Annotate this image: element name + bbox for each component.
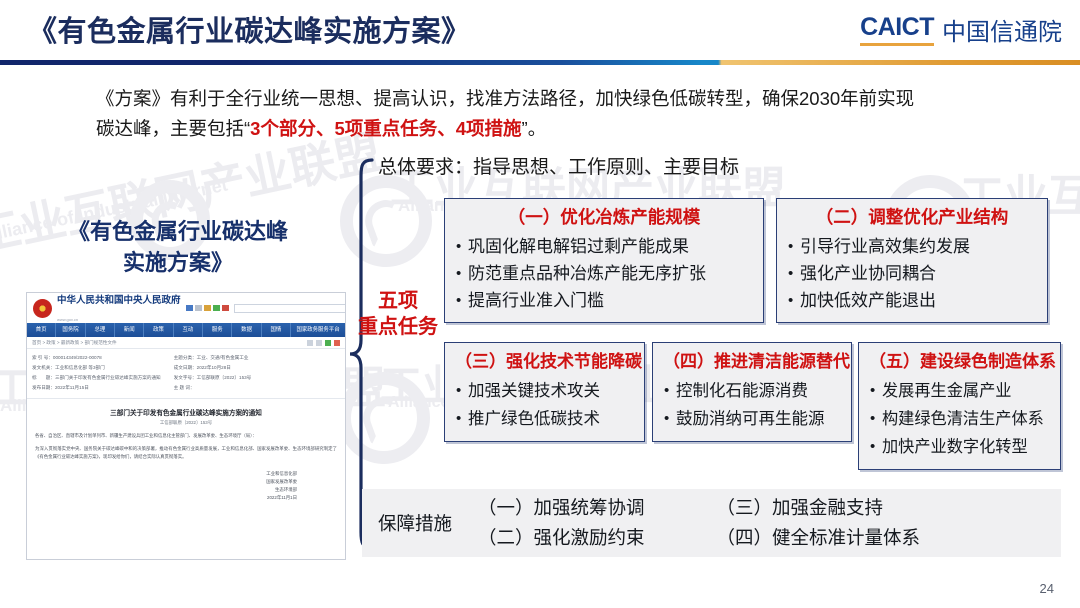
task-card-2-title: （二）调整优化产业结构	[787, 205, 1037, 230]
gov-breadcrumb: 首页 > 政策 > 最新政策 > 部门规范性文件	[27, 337, 345, 349]
measure-item: （四）健全标准计量体系	[717, 523, 921, 553]
wechat-icon[interactable]	[325, 340, 331, 346]
task-item: 提高行业准入门槛	[455, 287, 753, 314]
gov-nav-item[interactable]: 国情	[262, 323, 291, 337]
gov-nav-item[interactable]: 国家政务服务平台	[291, 323, 345, 337]
gov-nav-item[interactable]: 国务院	[56, 323, 85, 337]
page-title: 《有色金属行业碳达峰实施方案》	[28, 8, 471, 50]
task-item: 引导行业高效集约发展	[787, 233, 1037, 260]
star-icon	[204, 305, 211, 311]
task-card-4-list: 控制化石能源消费 鼓励消纳可再生能源	[663, 377, 841, 433]
gov-doc-paragraph: 为深入贯彻落实党中央、国务院关于碳达峰碳中和的决策部署，推动有色金属行业高质量发…	[35, 445, 337, 462]
measures-column-2: （三）加强金融支持 （四）健全标准计量体系	[717, 493, 921, 553]
gov-meta-row: 索 引 号：000014349/2022-00078 主题分类：工业、交通/有色…	[32, 353, 340, 363]
font-size-icon[interactable]	[307, 340, 313, 346]
gov-doc-metadata: 索 引 号：000014349/2022-00078 主题分类：工业、交通/有色…	[27, 349, 345, 399]
safeguard-measures-label: 保障措施	[378, 510, 452, 536]
task-card-3-title: （三）强化技术节能降碳	[455, 349, 634, 374]
task-item: 发展再生金属产业	[869, 377, 1050, 405]
task-item: 构建绿色清洁生产体系	[869, 405, 1050, 433]
intro-paragraph: 《方案》有利于全行业统一思想、提高认识，找准方法路径，加快绿色低碳转型，确保20…	[96, 84, 1006, 144]
task-card-4: （四）推进清洁能源替代 控制化石能源消费 鼓励消纳可再生能源	[652, 342, 852, 442]
task-card-5-title: （五）建设绿色制造体系	[869, 349, 1050, 374]
wechat-icon	[213, 305, 220, 311]
gov-site-name: 中华人民共和国中央人民政府	[57, 295, 181, 306]
task-item: 防范重点品种冶炼产能无序扩张	[455, 260, 753, 287]
gov-meta-row: 标 题：三部门关于印发有色金属行业碳达峰实施方案的通知 发文字号：工信部联原〔2…	[32, 373, 340, 383]
task-item: 加强关键技术攻关	[455, 377, 634, 405]
gov-nav-item[interactable]: 服务	[203, 323, 232, 337]
measures-column-1: （一）加强统筹协调 （二）强化激励约束	[478, 493, 645, 553]
gov-nav-item[interactable]: 新闻	[115, 323, 144, 337]
intro-line-1: 《方案》有利于全行业统一思想、提高认识，找准方法路径，加快绿色低碳转型，确保20…	[96, 84, 1006, 114]
measure-item: （一）加强统筹协调	[478, 493, 645, 523]
caict-logo: CAICT 中国信通院	[860, 12, 1062, 47]
gov-nav-bar[interactable]: 首页 国务院 总理 新闻 政策 互动 服务 数据 国情 国家政务服务平台	[27, 323, 345, 337]
task-card-4-title: （四）推进清洁能源替代	[663, 349, 841, 374]
gov-nav-item[interactable]: 互动	[174, 323, 203, 337]
task-card-3-list: 加强关键技术攻关 推广绿色低碳技术	[455, 377, 634, 433]
task-card-2: （二）调整优化产业结构 引导行业高效集约发展 强化产业协同耦合 加快低效产能退出	[776, 198, 1048, 323]
document-title-left: 《有色金属行业碳达峰 实施方案》	[28, 216, 328, 278]
slide-canvas: 工业互联网产业联盟 Alliance of Industrial Interne…	[0, 0, 1080, 608]
task-card-5-list: 发展再生金属产业 构建绿色清洁生产体系 加快产业数字化转型	[869, 377, 1050, 461]
header-divider	[0, 60, 1080, 65]
task-card-2-list: 引导行业高效集约发展 强化产业协同耦合 加快低效产能退出	[787, 233, 1037, 314]
measure-item: （三）加强金融支持	[717, 493, 921, 523]
gov-search-input[interactable]	[234, 304, 346, 313]
gov-share-row[interactable]	[307, 340, 340, 346]
safeguard-measures-panel: 保障措施 （一）加强统筹协调 （二）强化激励约束 （三）加强金融支持 （四）健全…	[362, 489, 1061, 557]
weibo-icon	[222, 305, 229, 311]
task-card-5: （五）建设绿色制造体系 发展再生金属产业 构建绿色清洁生产体系 加快产业数字化转…	[858, 342, 1061, 470]
task-card-1-title: （一）优化冶炼产能规模	[455, 205, 753, 230]
signature-line: 工业和信息化部	[35, 470, 297, 478]
task-card-3: （三）强化技术节能降碳 加强关键技术攻关 推广绿色低碳技术	[444, 342, 645, 442]
task-item: 巩固化解电解铝过剩产能成果	[455, 233, 753, 260]
task-item: 加快产业数字化转型	[869, 433, 1050, 461]
measure-item: （二）强化激励约束	[478, 523, 645, 553]
five-key-tasks-label: 五项 重点任务	[352, 288, 444, 340]
national-emblem-icon	[33, 299, 52, 318]
gov-nav-item[interactable]: 首页	[27, 323, 56, 337]
print-icon	[195, 305, 202, 311]
signature-line: 生态环境部	[35, 486, 297, 494]
gov-doc-paragraph: 各省、自治区、直辖市及计划单列市、新疆生产建设兵团工业和信息化主管部门、发展改革…	[35, 432, 337, 441]
task-item: 控制化石能源消费	[663, 377, 841, 405]
caict-logo-text: 中国信通院	[942, 12, 1062, 47]
gov-website-screenshot: 中华人民共和国中央人民政府 www.gov.cn 首页 国务院 总理 新闻 政策…	[26, 292, 346, 560]
signature-date: 2022年11月1日	[35, 494, 297, 502]
gov-doc-number: 工信部联原〔2022〕153号	[35, 420, 337, 426]
gov-nav-item[interactable]: 政策	[144, 323, 173, 337]
gov-doc-signature: 工业和信息化部 国家发展改革委 生态环境部 2022年11月1日	[35, 470, 337, 502]
intro-line-2: 碳达峰，主要包括“3个部分、5项重点任务、4项措施”。	[96, 114, 1006, 144]
task-item: 鼓励消纳可再生能源	[663, 405, 841, 433]
document-title-line-1: 《有色金属行业碳达峰	[28, 216, 328, 247]
gov-nav-item[interactable]: 数据	[232, 323, 261, 337]
share-icon	[186, 305, 193, 311]
weibo-icon[interactable]	[334, 340, 340, 346]
gov-site-url: www.gov.cn	[57, 317, 78, 322]
caict-logo-mark: CAICT	[860, 13, 934, 46]
task-item: 推广绿色低碳技术	[455, 405, 634, 433]
print-icon[interactable]	[316, 340, 322, 346]
overall-requirement-label: 总体要求：指导思想、工作原则、主要目标	[378, 152, 739, 179]
document-title-line-2: 实施方案》	[28, 247, 328, 278]
gov-doc-body: 三部门关于印发有色金属行业碳达峰实施方案的通知 工信部联原〔2022〕153号 …	[27, 399, 345, 502]
gov-nav-item[interactable]: 总理	[86, 323, 115, 337]
gov-meta-row: 发布日期：2022年11月15日 主 题 词：	[32, 383, 340, 393]
task-card-1-list: 巩固化解电解铝过剩产能成果 防范重点品种冶炼产能无序扩张 提高行业准入门槛	[455, 233, 753, 314]
gov-header-bar: 中华人民共和国中央人民政府 www.gov.cn	[27, 293, 345, 323]
gov-doc-title: 三部门关于印发有色金属行业碳达峰实施方案的通知	[35, 407, 337, 417]
task-item: 加快低效产能退出	[787, 287, 1037, 314]
intro-highlight: 3个部分、5项重点任务、4项措施	[250, 118, 521, 139]
task-card-1: （一）优化冶炼产能规模 巩固化解电解铝过剩产能成果 防范重点品种冶炼产能无序扩张…	[444, 198, 764, 323]
gov-toolbar-icons	[186, 304, 346, 313]
gov-meta-row: 发文机关：工业和信息化部 等3部门 成文日期：2022年10月28日	[32, 363, 340, 373]
signature-line: 国家发展改革委	[35, 478, 297, 486]
page-number: 24	[1040, 581, 1054, 596]
gov-doc-paragraphs: 各省、自治区、直辖市及计划单列市、新疆生产建设兵团工业和信息化主管部门、发展改革…	[35, 432, 337, 462]
task-item: 强化产业协同耦合	[787, 260, 1037, 287]
gov-breadcrumb-text: 首页 > 政策 > 最新政策 > 部门规范性文件	[32, 340, 117, 346]
